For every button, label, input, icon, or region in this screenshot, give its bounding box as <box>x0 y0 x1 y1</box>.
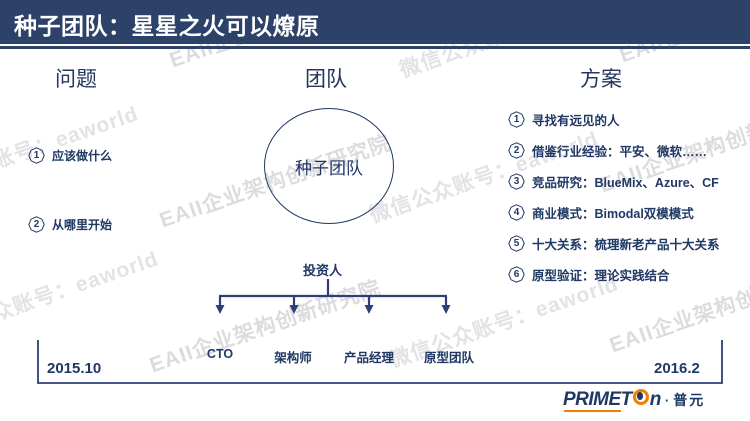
slide-canvas: 微信公众账号：eaworld EAII企业架构创新研究院 微信公众账号：eawo… <box>0 0 750 421</box>
role-label-prototype-team: 原型团队 <box>424 347 474 366</box>
timeline-end-date: 2016.2 <box>654 360 700 377</box>
logo-brand-left-text: PRIMET <box>563 389 632 410</box>
logo-brand-left: PRIMET <box>563 390 632 409</box>
title-underline-rule <box>0 46 750 49</box>
timeline-start-date: 2015.10 <box>47 360 101 377</box>
logo-separator: · <box>665 393 669 408</box>
role-label-cto: CTO <box>207 347 233 361</box>
role-label-architect: 架构师 <box>274 347 312 366</box>
tree-root-label: 投资人 <box>303 260 342 279</box>
logo-o-icon <box>633 389 649 405</box>
primeton-logo: PRIMET n · 普元 <box>563 389 705 410</box>
role-label-product-manager: 产品经理 <box>344 347 394 366</box>
logo-brand-cn: 普元 <box>673 390 705 410</box>
logo-brand-right: n <box>650 390 661 409</box>
page-title: 种子团队：星星之火可以燎原 <box>14 7 320 41</box>
logo-underline <box>564 410 621 413</box>
